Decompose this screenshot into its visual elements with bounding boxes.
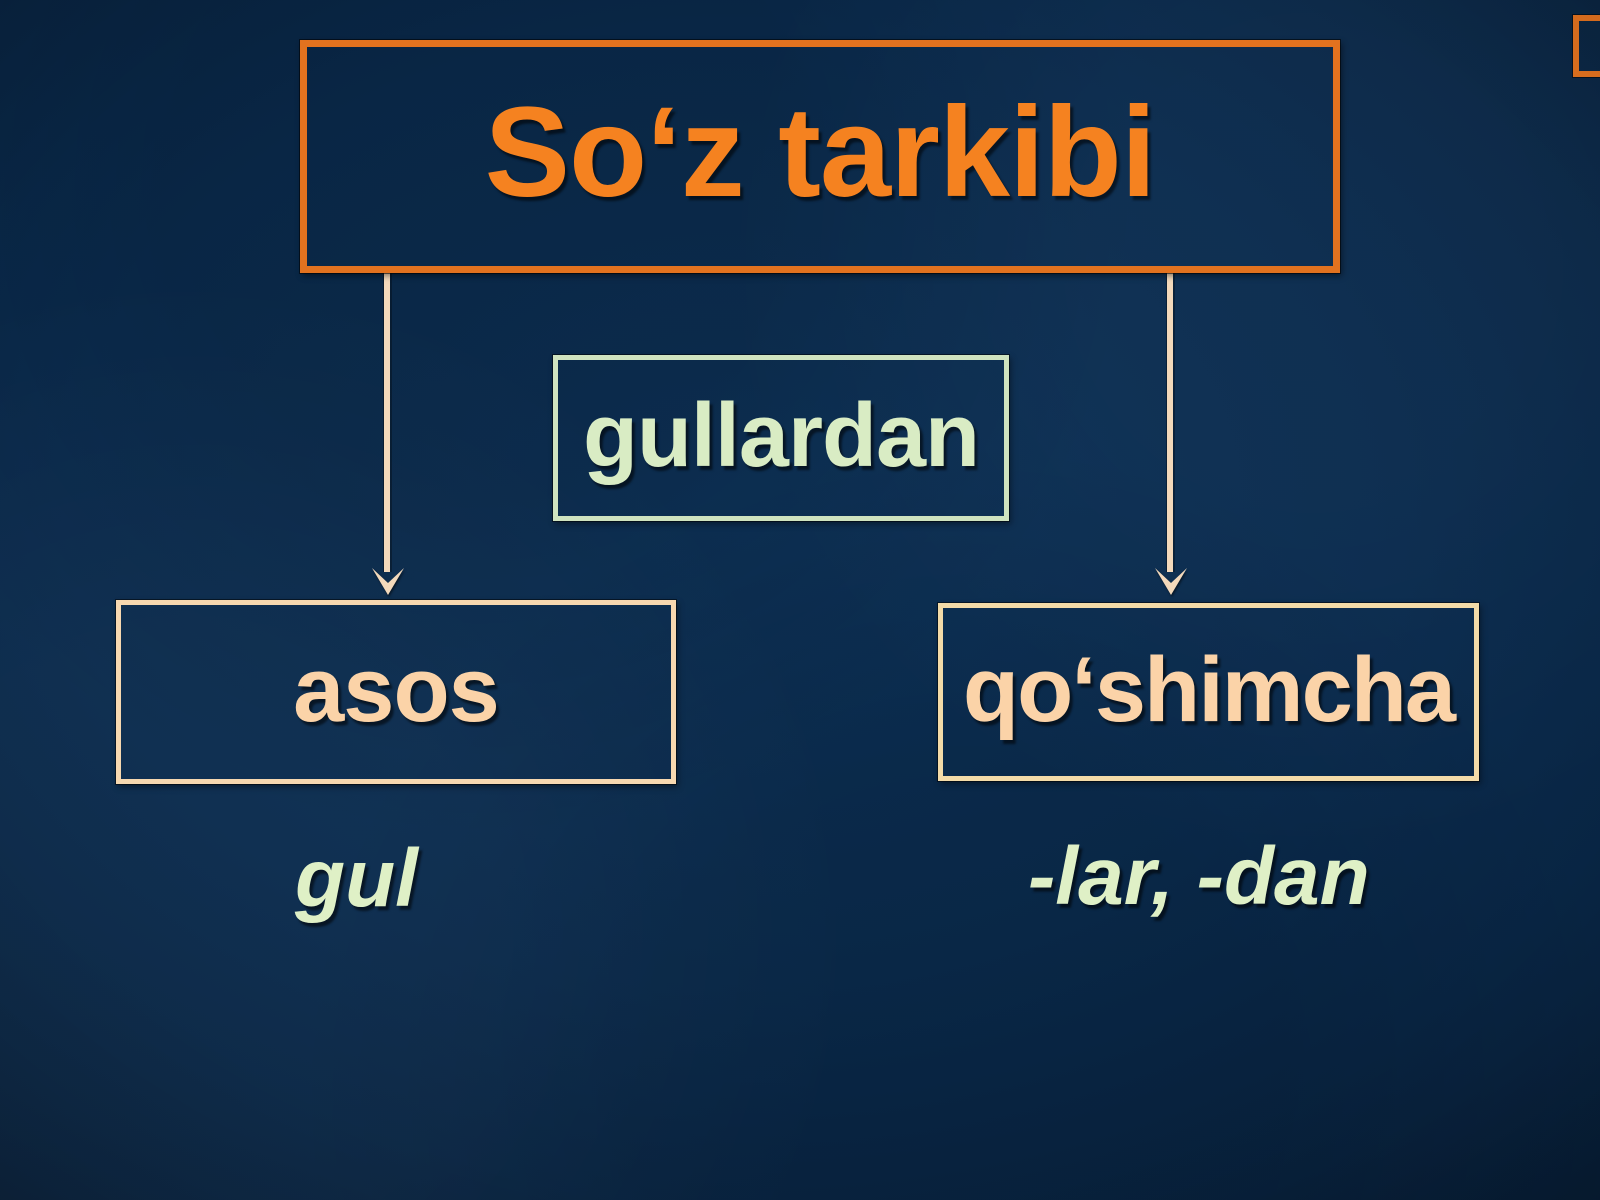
arrow-title-to-asos-head <box>371 566 405 596</box>
page-title: So‘z tarkibi <box>485 89 1156 217</box>
stem-box: asos <box>116 600 676 784</box>
arrow-title-to-qoshimcha-line <box>1166 272 1175 572</box>
suffix-label: qo‘shimcha <box>963 644 1454 736</box>
slide-canvas: So‘z tarkibi gullardan asos gul qo‘shimc… <box>0 0 1600 1200</box>
suffix-box: qo‘shimcha <box>938 603 1479 781</box>
example-word-box: gullardan <box>553 355 1009 521</box>
example-word-label: gullardan <box>583 391 979 481</box>
arrow-title-to-qoshimcha-head <box>1154 566 1188 596</box>
stem-caption: gul <box>295 838 418 920</box>
arrow-title-to-asos-line <box>383 272 392 572</box>
clipped-orange-box-marker <box>1573 15 1600 77</box>
suffix-caption: -lar, -dan <box>1028 836 1370 918</box>
title-box: So‘z tarkibi <box>300 40 1340 273</box>
stem-label: asos <box>293 644 499 736</box>
